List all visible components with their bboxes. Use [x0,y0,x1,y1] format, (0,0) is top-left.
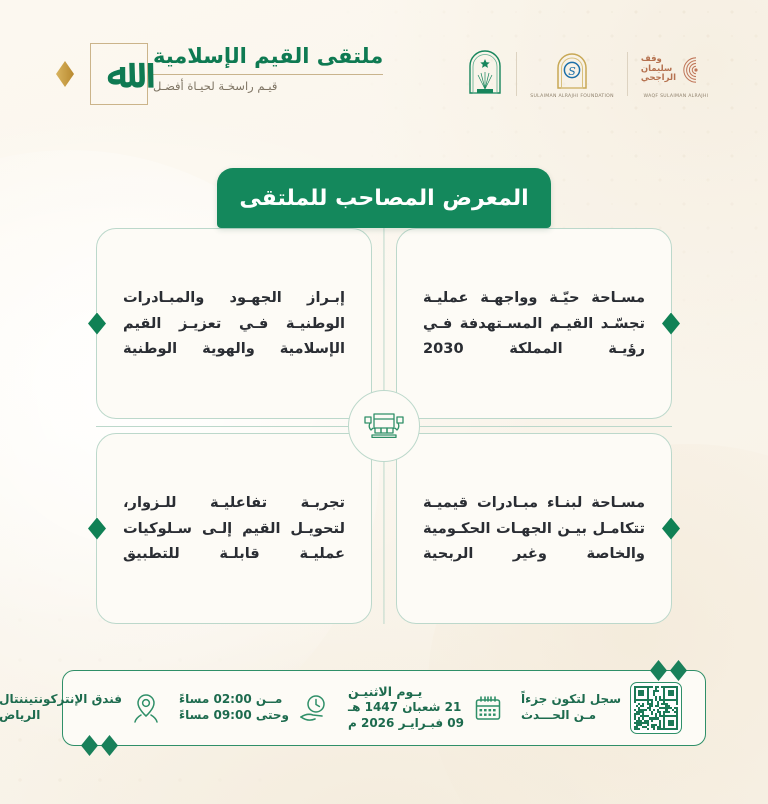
brand-tagline: قيـم راسخـة لحيـاة أفضـل [153,79,277,93]
register-cta[interactable]: سجل لتكون جزءاً مـن الحـــدث [512,682,691,734]
venue-name: فندق الإنتركونتيننتال [0,692,122,708]
card-vision-2030-text: مسـاحة حيّـة وواجهـة عمليـة تجسّـد القيـ… [423,285,645,362]
partner-divider-1 [627,52,628,96]
partner-divider-2 [516,52,517,96]
card-interactive-experience-text: تجربـة تفاعليـة للـزوار، لتحويـل القيم إ… [123,490,345,567]
waqf-line-3: الراجحي [641,74,676,84]
event-day: يـوم الاثنيـن [348,684,422,701]
event-date-text: يـوم الاثنيـن 21 شعبان 1447 هـ 09 فبـراي… [348,684,464,732]
corner-diamond-icon [101,735,118,756]
card-interactive-experience: تجربـة تفاعليـة للـزوار، لتحويـل القيم إ… [96,433,372,624]
waqf-alrajhi-mark: وقف سليمان الراجحي [641,50,711,90]
partner-logo-waqf-sulaiman-alrajhi: وقف سليمان الراجحي WAQF SULAIMAN ALRAJHI [628,50,724,99]
brand-seal-glyph: ﷲ [94,47,144,101]
event-date-gregorian: 09 فبـرايـر 2026 م [348,716,464,732]
svg-text:S: S [568,65,576,78]
partner-logo-third-entity [454,52,516,96]
brand-title: ملتقى القيم الإسلامية [153,43,383,69]
event-info-footer: سجل لتكون جزءاً مـن الحـــدث يـوم ا [62,670,706,746]
partner-logos: وقف سليمان الراجحي WAQF SULAIMAN ALRAJHI… [454,50,724,99]
mosque-arch-emblem-icon [467,49,503,95]
footer-corner-diamonds-bottom-left [81,735,118,756]
event-venue-block: فندق الإنتركونتيننتال الرياض [0,692,170,724]
third-entity-mark [467,52,503,92]
brand-words: ملتقى القيم الإسلامية قيـم راسخـة لحيـاة… [153,43,383,93]
registration-qr-code[interactable] [630,682,682,734]
corner-diamond-icon [650,660,667,681]
event-date-block: يـوم الاثنيـن 21 شعبان 1447 هـ 09 فبـراي… [339,684,512,732]
register-line-1: سجل لتكون جزءاً [521,692,621,708]
footer-corner-diamonds-top-right [650,660,687,681]
brand-divider-rule [153,74,383,75]
event-date-hijri: 21 شعبان 1447 هـ [348,700,461,716]
card-national-efforts-text: إبـراز الجهـود والمبـادرات الوطنيـة فـي … [123,285,345,362]
event-brand-logo: ملتقى القيم الإسلامية قيـم راسخـة لحيـاة… [56,43,383,105]
partner-name-en-1: SULAIMAN ALRAJHI FOUNDATION [530,94,614,99]
partner-logo-sulaiman-alrajhi-foundation: S SULAIMAN ALRAJHI FOUNDATION [517,50,627,99]
clock-in-hand-icon [298,693,330,723]
alrajhi-foundation-mark: S [552,50,592,90]
corner-diamond-icon [670,660,687,681]
register-line-2: مـن الحـــدث [521,708,596,724]
card-integrated-initiatives-text: مسـاحة لبنـاء مبـادرات قيميـة تتكامـل بي… [423,490,645,567]
page-header: وقف سليمان الراجحي WAQF SULAIMAN ALRAJHI… [0,0,768,148]
location-pin-icon [131,692,161,724]
corner-diamond-icon [81,735,98,756]
venue-city: الرياض [0,708,40,724]
waqf-alrajhi-wordmark: وقف سليمان الراجحي [641,55,676,84]
event-time-block: مــن 02:00 مساءً وحتى 09:00 مساءً [170,692,339,724]
event-venue-text: فندق الإنتركونتيننتال الرياض [0,692,122,724]
event-time-text: مــن 02:00 مساءً وحتى 09:00 مساءً [179,692,289,724]
center-hub [348,390,420,462]
exhibition-title-banner: المعرض المصاحب للملتقى [217,168,551,228]
card-national-efforts: إبـراز الجهـود والمبـادرات الوطنيـة فـي … [96,228,372,419]
exhibition-booth-icon [363,408,405,444]
card-integrated-initiatives: مسـاحة لبنـاء مبـادرات قيميـة تتكامـل بي… [396,433,672,624]
qr-modules [634,686,678,730]
calendar-icon [473,693,503,723]
brand-seal-icon: ﷲ [90,43,148,105]
waqf-arcs-icon [681,55,711,85]
page-title: المعرض المصاحب للملتقى [239,186,528,211]
event-time-from: مــن 02:00 مساءً [179,692,282,708]
foundation-arch-icon: S [552,50,592,90]
brand-calligraphy: ملتقى القيم الإسلامية قيـم راسخـة لحيـاة… [90,43,383,105]
brand-gold-diamond-icon [56,61,74,87]
register-label: سجل لتكون جزءاً مـن الحـــدث [521,692,621,724]
event-time-to: وحتى 09:00 مساءً [179,708,289,724]
partner-name-en-0: WAQF SULAIMAN ALRAJHI [644,94,709,99]
card-vision-2030: مسـاحة حيّـة وواجهـة عمليـة تجسّـد القيـ… [396,228,672,419]
